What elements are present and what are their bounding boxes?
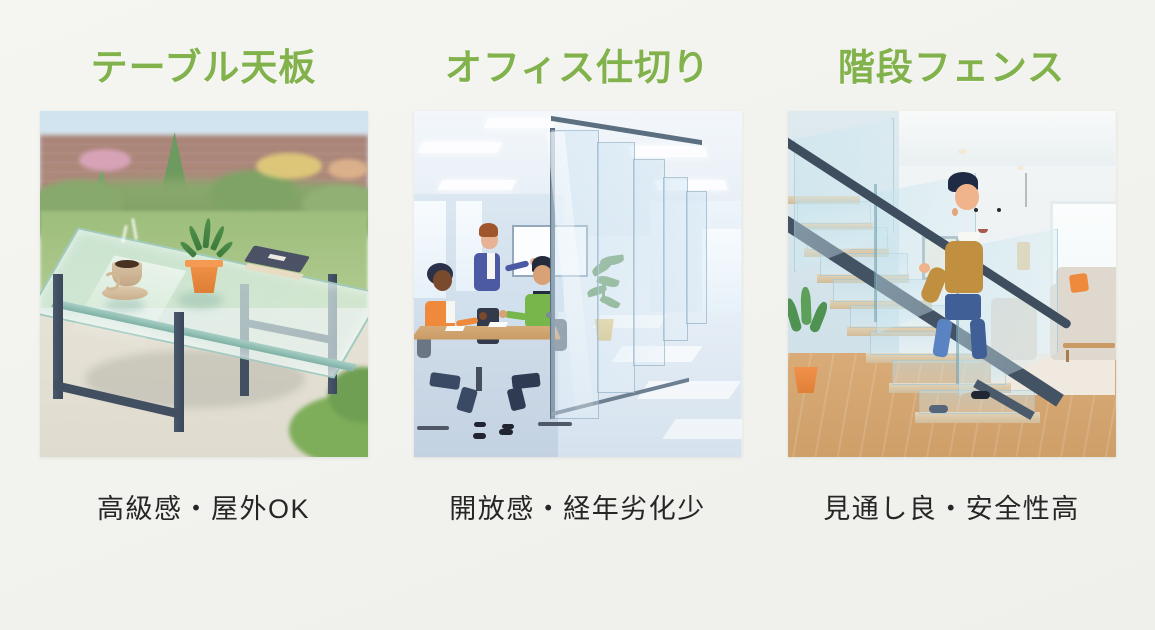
card-office-partition: オフィス仕切り [413,40,743,526]
shoe [499,429,513,435]
scene-garden-table [40,111,368,457]
cup-reflection [105,298,145,312]
floor-light-pool [663,419,742,439]
door-handle [546,312,552,318]
card-row: テーブル天板 [0,0,1155,630]
glass-panel [597,142,635,393]
pendant-cord [1025,173,1027,207]
sweater-torso [945,241,983,293]
card-caption: 見通し良・安全性高 [823,487,1080,526]
collar [958,232,980,241]
glass-panel [663,177,688,342]
meeting-table [414,326,562,340]
scene-staircase [788,111,1116,457]
glass-panel [686,191,708,324]
chair-base [538,422,572,426]
coffee-table [1063,343,1115,348]
ceiling-light [437,180,516,190]
hand [479,312,487,320]
glass-panel [633,159,665,365]
ceiling-light [628,146,708,157]
shirt [487,253,495,279]
chair-base [417,426,449,430]
card-title: オフィス仕切り [445,40,710,96]
window [702,229,741,312]
staircase-glass-fence-illustration [788,111,1116,457]
jeans-hip [945,294,981,320]
orange-cushion [1068,272,1088,292]
ear [952,208,958,216]
floor-inside-room [414,326,571,457]
hand [499,310,507,318]
ceiling-light [483,118,555,128]
ceiling [879,111,1115,166]
flower-cluster [79,149,131,171]
hair [479,223,498,237]
table-leg [476,367,482,391]
paper-sheet [445,326,465,331]
card-caption: 高級感・屋外OK [97,487,310,526]
head [955,184,979,210]
glass-table-top-illustration [40,111,368,457]
scene-office [414,111,742,457]
infographic-board: テーブル天板 [0,0,1155,630]
paper-sheet [488,322,508,327]
flower-cluster [256,153,322,179]
office-glass-partition-illustration [414,111,742,457]
shoe [929,405,948,413]
shoe [971,391,990,399]
plant-reflection [177,291,223,309]
card-caption: 開放感・経年劣化少 [449,487,706,526]
card-title: テーブル天板 [91,40,317,96]
card-title: 階段フェンス [838,40,1065,96]
pot-rim [185,260,223,267]
jeans-leg-back [970,318,988,359]
coffee-surface [115,260,139,268]
shoe [473,433,486,439]
card-table-top: テーブル天板 [39,40,369,526]
shoe [474,422,486,427]
shirt [446,301,455,323]
plant-leaf [800,287,811,325]
card-stair-fence: 階段フェンス [787,40,1117,526]
ceiling-light [417,142,503,153]
coffee-table-leg [1066,350,1069,362]
hand-on-rail [919,263,930,273]
